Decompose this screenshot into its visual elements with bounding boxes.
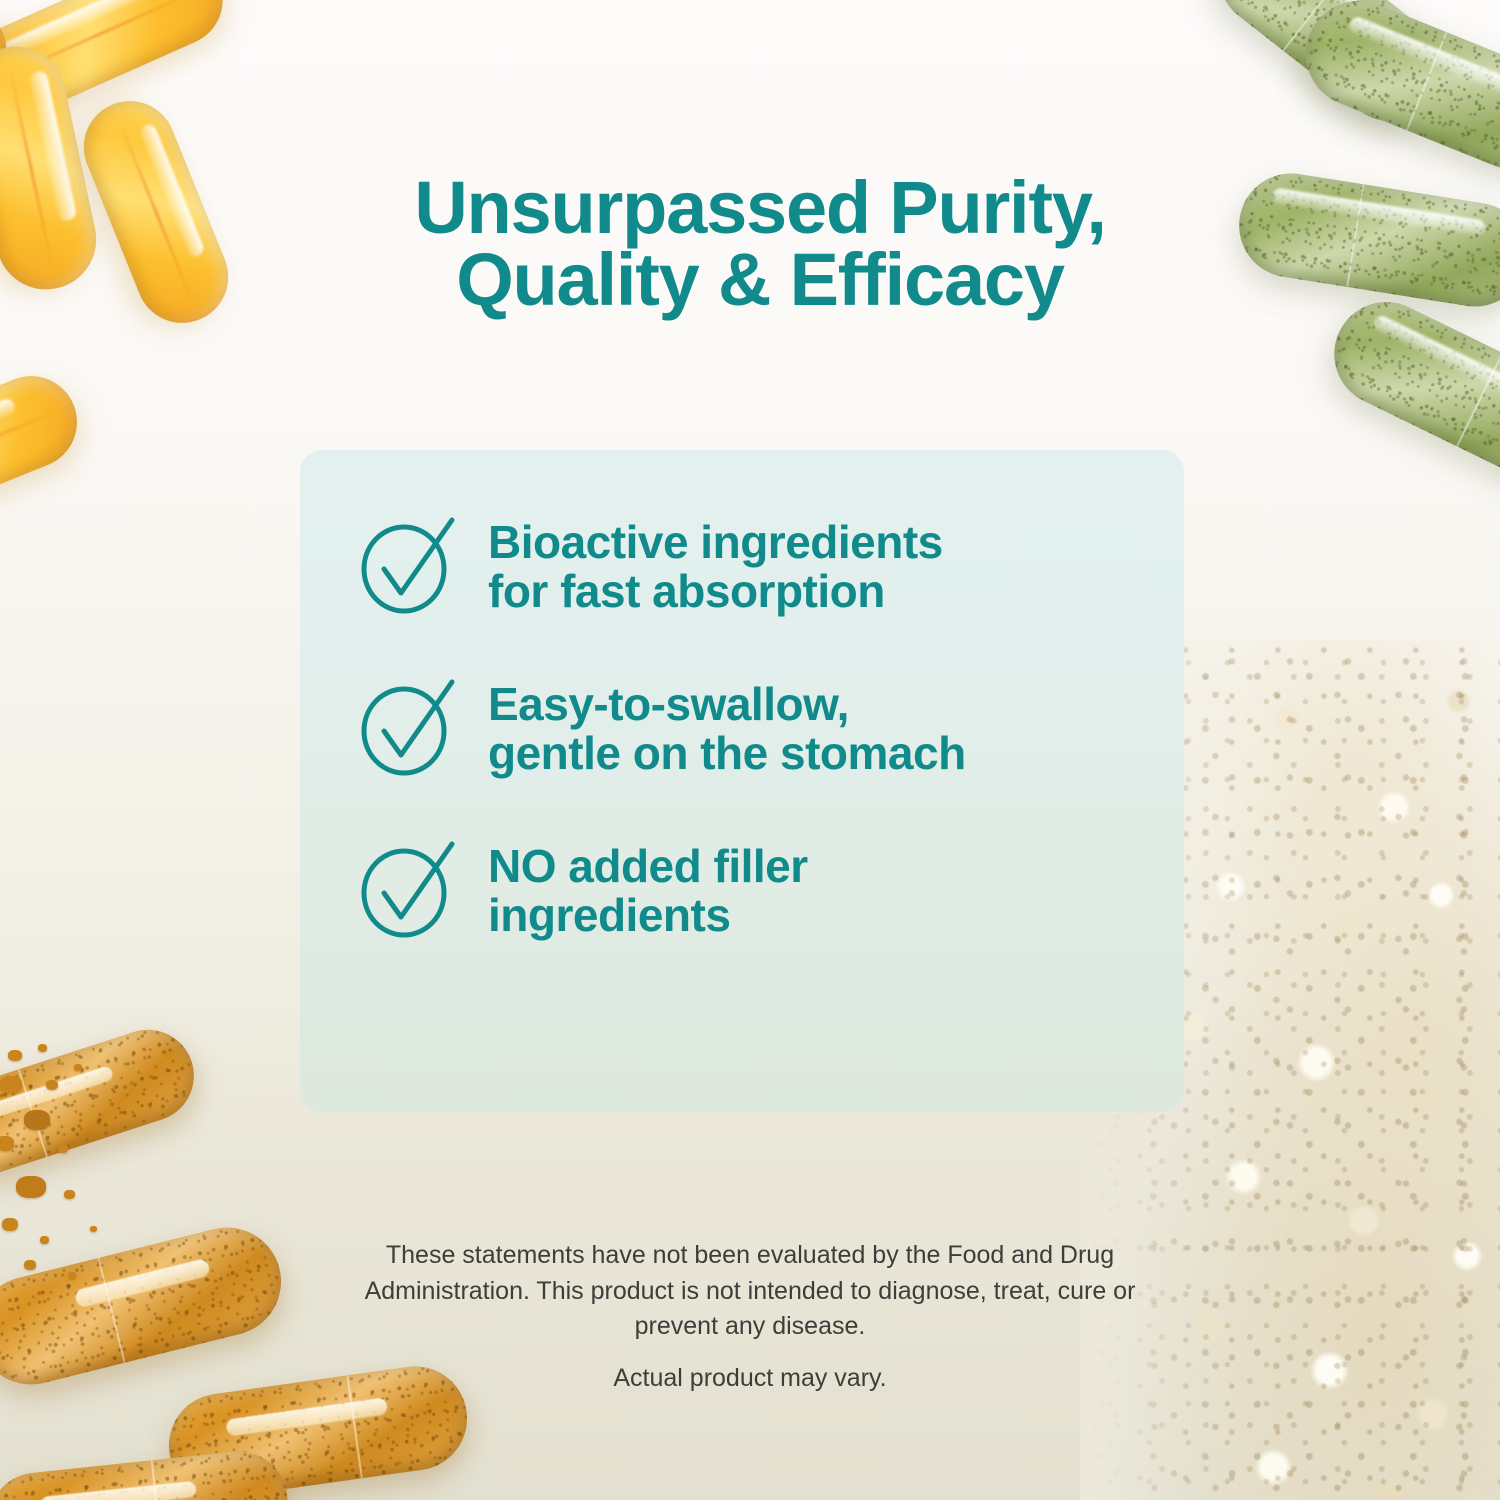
product-benefits-graphic: Unsurpassed Purity, Quality & Efficacy B… [0, 0, 1500, 1500]
benefits-card: Bioactive ingredients for fast absorptio… [300, 450, 1184, 1112]
softgel-capsule [0, 0, 237, 129]
page-title-line-2: Quality & Efficacy [320, 244, 1200, 316]
benefit-item-1: Bioactive ingredients for fast absorptio… [356, 512, 1184, 616]
check-circle-icon [356, 514, 462, 616]
check-circle-icon [356, 838, 462, 940]
turmeric-capsule [0, 1447, 292, 1500]
softgel-capsule [0, 37, 105, 298]
product-variance-note: Actual product may vary. [330, 1364, 1170, 1393]
benefit-2-line-2: gentle on the stomach [488, 727, 966, 779]
benefit-3-line-1: NO added filler [488, 840, 808, 892]
softgel-capsule [0, 0, 21, 146]
check-circle-icon [356, 676, 462, 778]
benefit-text-1: Bioactive ingredients for fast absorptio… [488, 512, 943, 616]
benefit-3-line-2: ingredients [488, 889, 730, 941]
benefit-1-line-1: Bioactive ingredients [488, 516, 943, 568]
green-capsule [1317, 285, 1500, 496]
benefit-item-2: Easy-to-swallow, gentle on the stomach [356, 674, 1184, 778]
benefit-text-2: Easy-to-swallow, gentle on the stomach [488, 674, 966, 778]
benefit-1-line-2: for fast absorption [488, 565, 885, 617]
softgel-capsule [0, 362, 91, 533]
softgel-capsule [70, 87, 242, 337]
fda-disclaimer: These statements have not been evaluated… [330, 1238, 1170, 1345]
page-title-line-1: Unsurpassed Purity, [414, 166, 1105, 249]
green-capsule [1290, 0, 1500, 185]
page-title: Unsurpassed Purity, Quality & Efficacy [320, 172, 1200, 316]
green-powder-capsules-image [1180, 0, 1500, 500]
green-capsule [1232, 166, 1500, 314]
gold-softgel-capsules-image [0, 0, 270, 610]
green-capsule [1197, 0, 1464, 142]
benefit-item-3: NO added filler ingredients [356, 836, 1184, 940]
benefit-text-3: NO added filler ingredients [488, 836, 808, 940]
benefit-2-line-1: Easy-to-swallow, [488, 678, 849, 730]
turmeric-powder-crumbs [0, 1040, 264, 1300]
